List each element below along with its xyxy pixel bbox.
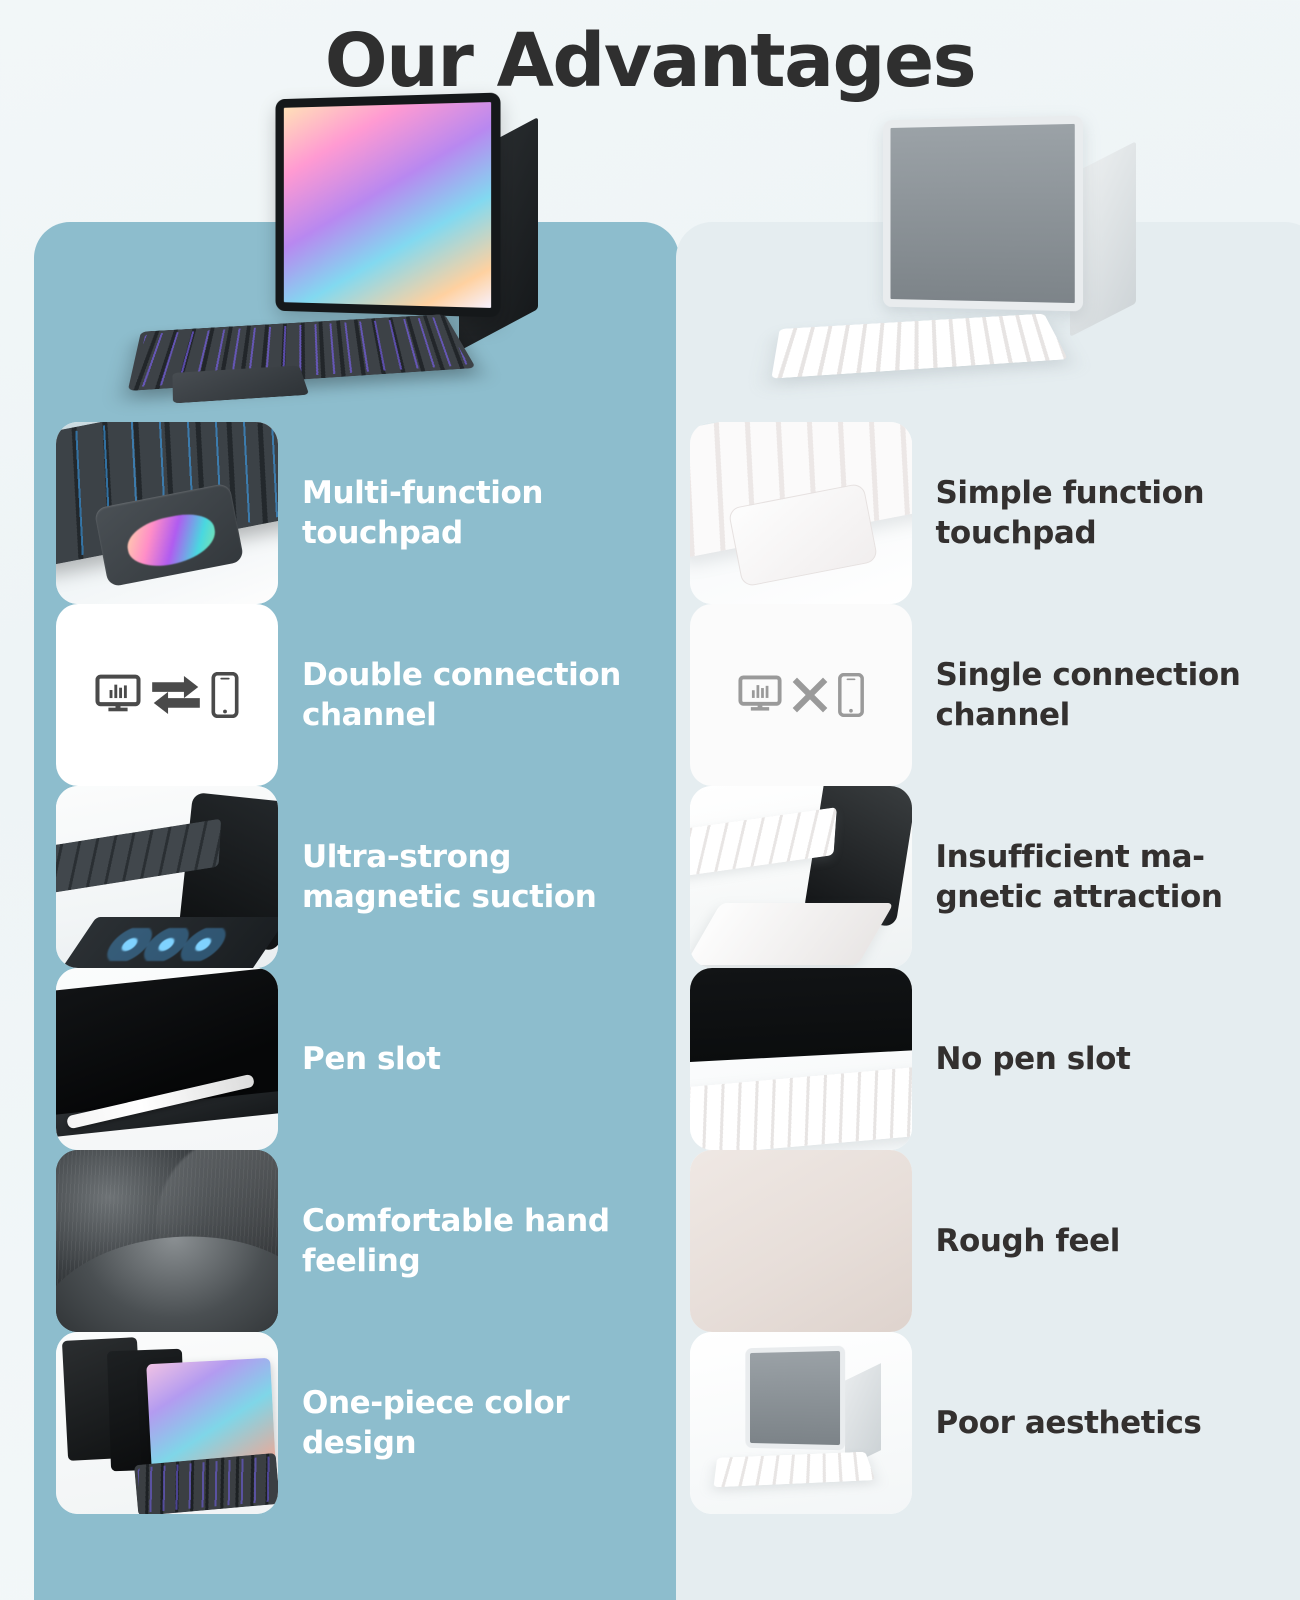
comparison-row: Double connection channel bbox=[0, 604, 1300, 786]
thumbnail-ultra-strong-magnetic-suction bbox=[56, 786, 278, 968]
tablet-screen bbox=[883, 115, 1083, 311]
caption-drawback: Simple function touchpad bbox=[936, 473, 1266, 554]
arrow-right-icon bbox=[152, 676, 198, 698]
caption-advantage: Multi-function touchpad bbox=[302, 473, 669, 554]
touchpad-shape bbox=[172, 366, 309, 404]
row-advantage: Multi-function touchpad bbox=[34, 422, 669, 604]
hero-image-white-keyboard-case bbox=[770, 112, 1160, 402]
thumbnail-one-piece-color-design bbox=[56, 1332, 278, 1514]
comparison-row: One-piece color design Poor aesthetics bbox=[0, 1332, 1300, 1514]
comparison-row: Ultra-strong magnetic suction Insufficie… bbox=[0, 786, 1300, 968]
comparison-row: Comfortable hand feeling Rough feel bbox=[0, 1150, 1300, 1332]
thumbnail-no-pen-slot bbox=[690, 968, 912, 1150]
caption-advantage: Double connection channel bbox=[302, 655, 669, 736]
thumbnail-comfortable-hand-feeling bbox=[56, 1150, 278, 1332]
monitor-icon bbox=[95, 672, 141, 718]
row-advantage: Ultra-strong magnetic suction bbox=[34, 786, 669, 968]
arrow-left-icon bbox=[154, 692, 200, 714]
caption-advantage: Comfortable hand feeling bbox=[302, 1201, 669, 1282]
cross-icon bbox=[790, 675, 830, 715]
thumbnail-simple-function-touchpad bbox=[690, 422, 912, 604]
page-title: Our Advantages bbox=[0, 18, 1300, 104]
caption-advantage: One-piece color design bbox=[302, 1383, 669, 1464]
keyboard-shape bbox=[771, 314, 1068, 379]
caption-drawback: Poor aesthetics bbox=[936, 1403, 1202, 1443]
caption-drawback: No pen slot bbox=[936, 1039, 1131, 1079]
caption-drawback: Rough feel bbox=[936, 1221, 1120, 1261]
comparison-rows: Multi-function touchpad Simple function … bbox=[0, 422, 1300, 1514]
thumbnail-double-connection-channel bbox=[56, 604, 278, 786]
phone-icon bbox=[211, 672, 239, 718]
monitor-icon bbox=[738, 673, 782, 717]
row-drawback: Poor aesthetics bbox=[666, 1332, 1300, 1514]
row-advantage: Comfortable hand feeling bbox=[34, 1150, 669, 1332]
thumbnail-insufficient-magnetic-attraction bbox=[690, 786, 912, 968]
thumbnail-single-connection-channel bbox=[690, 604, 912, 786]
double-arrow-icon bbox=[149, 671, 203, 719]
caption-drawback: Insufficient ma-gnetic attraction bbox=[936, 837, 1266, 918]
row-drawback: No pen slot bbox=[666, 968, 1300, 1150]
row-drawback: Rough feel bbox=[666, 1150, 1300, 1332]
row-drawback: Single connection channel bbox=[666, 604, 1300, 786]
thumbnail-rough-feel bbox=[690, 1150, 912, 1332]
thumbnail-pen-slot bbox=[56, 968, 278, 1150]
hero-image-dark-keyboard-case bbox=[120, 96, 560, 416]
comparison-row: Pen slot No pen slot bbox=[0, 968, 1300, 1150]
comparison-row: Multi-function touchpad Simple function … bbox=[0, 422, 1300, 604]
caption-drawback: Single connection channel bbox=[936, 655, 1266, 736]
caption-advantage: Pen slot bbox=[302, 1039, 441, 1079]
row-advantage: One-piece color design bbox=[34, 1332, 669, 1514]
phone-icon bbox=[838, 673, 864, 717]
row-drawback: Insufficient ma-gnetic attraction bbox=[666, 786, 1300, 968]
thumbnail-multi-function-touchpad bbox=[56, 422, 278, 604]
thumbnail-poor-aesthetics bbox=[690, 1332, 912, 1514]
row-advantage: Pen slot bbox=[34, 968, 669, 1150]
caption-advantage: Ultra-strong magnetic suction bbox=[302, 837, 669, 918]
tablet-screen bbox=[275, 92, 500, 317]
row-drawback: Simple function touchpad bbox=[666, 422, 1300, 604]
row-advantage: Double connection channel bbox=[34, 604, 669, 786]
